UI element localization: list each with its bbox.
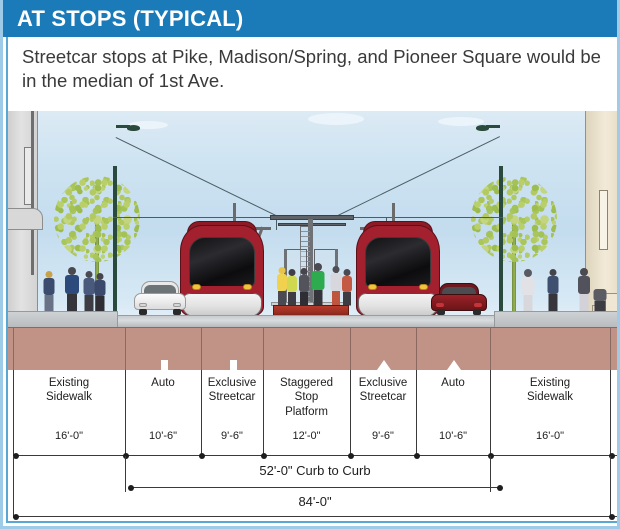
header-bar: AT STOPS (TYPICAL) — [3, 0, 620, 37]
label-line: Exclusive — [350, 376, 416, 390]
streetcar-skirt — [358, 293, 439, 317]
lane-divider — [263, 327, 264, 370]
column-label-staggered-stop-platform: Staggered Stop Platform — [263, 376, 350, 419]
label-line: Staggered — [263, 376, 350, 390]
column-dimension-staggered-stop-platform: 12'-0" — [263, 430, 350, 442]
car-wheel — [139, 309, 147, 315]
street-cross-section-illustration — [6, 111, 620, 370]
car-southbound — [134, 281, 186, 315]
pedestrian — [93, 273, 106, 311]
label-line: Existing — [490, 376, 610, 390]
label-line: Sidewalk — [13, 390, 125, 404]
streetcar-northbound — [356, 225, 440, 317]
dimension-tick — [609, 514, 615, 520]
diagram-frame: AT STOPS (TYPICAL) Streetcar stops at Pi… — [0, 0, 620, 529]
streetcar-windshield — [189, 237, 255, 288]
caption-panel: Streetcar stops at Pike, Madison/Spring,… — [6, 37, 620, 111]
lane-divider — [350, 327, 351, 370]
column-dimension-auto-southbound: 10'-6" — [125, 430, 201, 442]
lane-divider — [13, 327, 14, 370]
dimension-line-curb-to-curb — [131, 487, 501, 488]
light-pole-right — [499, 166, 503, 314]
dimension-tick — [348, 453, 354, 459]
dimension-line-segments — [13, 455, 618, 456]
ground-section-band — [8, 327, 618, 370]
column-label-existing-sidewalk-left: Existing Sidewalk — [13, 376, 125, 405]
dimension-tick — [414, 453, 420, 459]
lane-divider — [490, 327, 491, 370]
pedestrian — [521, 269, 535, 311]
column-label-auto-southbound: Auto — [125, 376, 201, 390]
pedestrian — [577, 268, 591, 311]
page-title: AT STOPS (TYPICAL) — [3, 6, 243, 32]
streetcar-headlight-left — [192, 284, 201, 290]
passenger-waiting — [311, 263, 324, 305]
car-taillight-left — [436, 303, 444, 307]
label-line: Existing — [13, 376, 125, 390]
dimension-tick — [128, 485, 134, 491]
dimension-table: Existing Sidewalk 16'-0" Auto 10'-6" Exc… — [6, 370, 620, 523]
column-dimension-exclusive-streetcar-southbound: 9'-6" — [201, 430, 263, 442]
label-line: Auto — [416, 376, 490, 390]
car-wheel — [173, 309, 181, 315]
car-headlight-right — [173, 303, 181, 307]
lane-divider — [416, 327, 417, 370]
caption-text: Streetcar stops at Pike, Madison/Spring,… — [22, 45, 602, 94]
car-wheel — [473, 309, 481, 315]
column-divider — [610, 370, 611, 455]
column-dimension-exclusive-streetcar-northbound: 9'-6" — [350, 430, 416, 442]
tree-right — [471, 176, 557, 262]
cloud-icon — [308, 113, 364, 125]
car-body — [134, 293, 186, 311]
total-width-label: 84'-0" — [8, 494, 620, 509]
lamp-head-right — [476, 125, 489, 131]
column-label-existing-sidewalk-right: Existing Sidewalk — [490, 376, 610, 405]
tree-left — [54, 176, 140, 262]
streetcar-windshield — [365, 237, 431, 288]
lane-divider — [610, 327, 611, 370]
pedestrian — [546, 269, 559, 311]
dimension-tick — [199, 453, 205, 459]
car-headlight-left — [139, 303, 147, 307]
column-label-exclusive-streetcar-southbound: Exclusive Streetcar — [201, 376, 263, 405]
building-right-window — [599, 190, 608, 250]
lane-divider — [125, 327, 126, 370]
cloud-icon — [438, 117, 484, 126]
column-label-auto-northbound: Auto — [416, 376, 490, 390]
pedestrian — [64, 267, 79, 311]
column-dimension-auto-northbound: 10'-6" — [416, 430, 490, 442]
label-line: Sidewalk — [490, 390, 610, 404]
pedestrian — [42, 271, 55, 311]
dimension-tick — [261, 453, 267, 459]
passenger-waiting — [286, 269, 297, 305]
sidewalk-right — [494, 311, 618, 327]
light-pole-left — [113, 166, 117, 314]
sidewalk-left — [8, 311, 118, 327]
label-line: Platform — [263, 405, 350, 419]
lamp-head-left — [127, 125, 140, 131]
dimension-line-total-width — [13, 516, 618, 517]
dimension-tick — [13, 514, 19, 520]
label-line: Auto — [125, 376, 201, 390]
label-line: Streetcar — [201, 390, 263, 404]
building-left-mast — [31, 111, 34, 275]
passenger-waiting — [298, 268, 309, 305]
dimension-tick — [497, 485, 503, 491]
lane-divider — [201, 327, 202, 370]
building-left-ledge — [8, 208, 43, 230]
column-label-exclusive-streetcar-northbound: Exclusive Streetcar — [350, 376, 416, 405]
car-taillight-right — [474, 303, 482, 307]
pedestrian-with-stroller — [593, 289, 607, 311]
car-wheel — [437, 309, 445, 315]
label-line: Streetcar — [350, 390, 416, 404]
curb-to-curb-label: 52'-0" Curb to Curb — [8, 463, 620, 478]
car-northbound — [431, 283, 487, 315]
passenger-waiting — [341, 269, 352, 305]
streetcar-skirt — [182, 293, 263, 317]
label-line: Stop — [263, 390, 350, 404]
column-dimension-existing-sidewalk-left: 16'-0" — [13, 430, 125, 442]
streetcar-headlight-left — [368, 284, 377, 290]
column-dimension-existing-sidewalk-right: 16'-0" — [490, 430, 610, 442]
label-line: Exclusive — [201, 376, 263, 390]
streetcar-southbound — [180, 225, 264, 317]
